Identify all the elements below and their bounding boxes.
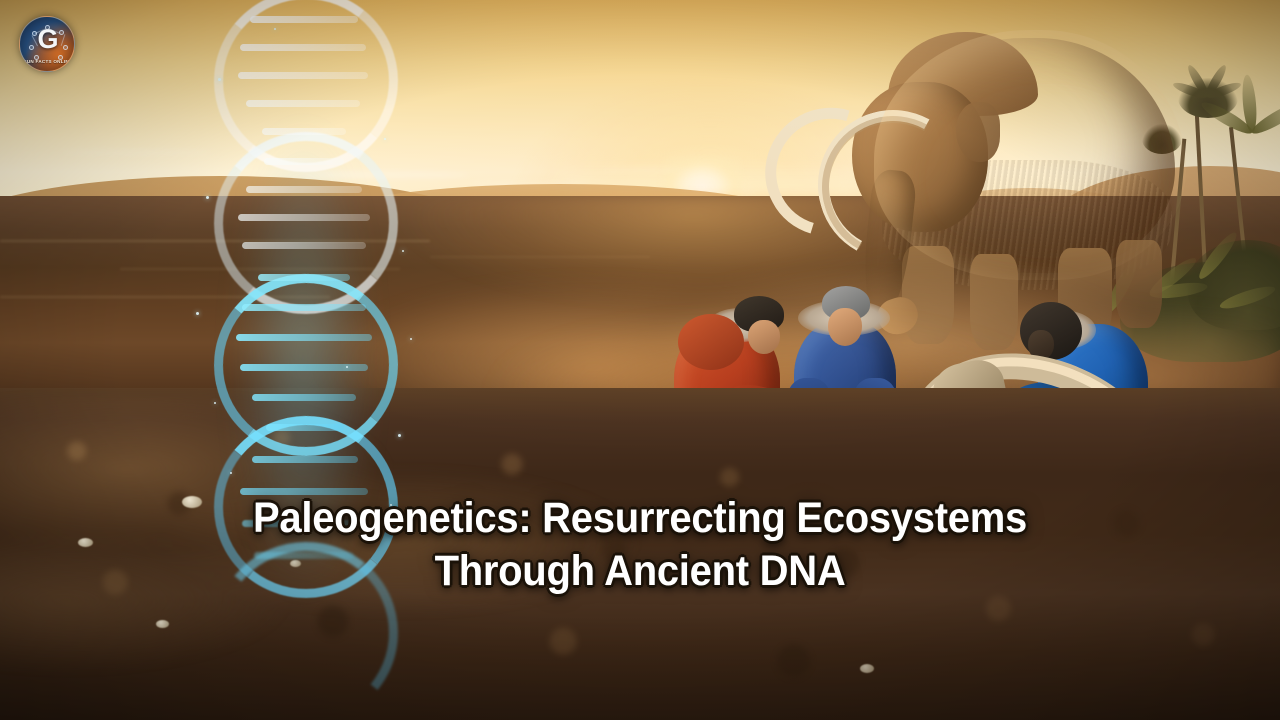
dna-double-helix xyxy=(178,0,428,632)
dna-base-pair xyxy=(264,158,344,165)
dna-particle xyxy=(390,504,392,506)
dna-particle xyxy=(218,78,221,81)
dna-particle xyxy=(196,312,199,315)
dna-base-pair xyxy=(242,520,364,527)
dna-base-pair xyxy=(258,274,350,281)
pebble xyxy=(860,664,874,673)
researcher-hood xyxy=(678,314,744,370)
site-logo[interactable]: G FUN FACTS ONLINE xyxy=(19,16,75,72)
dna-particle xyxy=(274,28,276,30)
dna-particle xyxy=(346,366,348,368)
dna-base-pair xyxy=(240,364,368,371)
researcher-face xyxy=(828,308,862,346)
dna-particle xyxy=(230,472,232,474)
dna-base-pair xyxy=(242,304,366,311)
dna-base-pair xyxy=(238,72,368,79)
hero-banner: Paleogenetics: Resurrecting Ecosystems T… xyxy=(0,0,1280,720)
dna-particle xyxy=(206,196,209,199)
dna-particle xyxy=(214,402,216,404)
logo-brand-text: FUN FACTS ONLINE xyxy=(20,59,75,64)
dna-base-pair xyxy=(240,488,368,495)
dna-base-pair xyxy=(246,186,362,193)
dna-base-pair xyxy=(240,44,366,51)
pebble xyxy=(78,538,93,547)
logo-monogram: G xyxy=(20,24,75,55)
researcher-face xyxy=(748,320,780,354)
dna-base-pair xyxy=(254,552,354,559)
dna-base-pair xyxy=(266,424,344,431)
dna-particle xyxy=(402,250,404,252)
dna-base-pair xyxy=(250,16,358,23)
cloud-streak xyxy=(600,168,690,172)
dna-base-pair xyxy=(262,128,346,135)
dna-particle xyxy=(398,434,401,437)
dna-base-pair xyxy=(238,214,370,221)
dna-base-pair xyxy=(236,334,372,341)
dna-base-pair xyxy=(252,394,356,401)
dna-base-pair xyxy=(252,456,358,463)
dna-particle xyxy=(410,338,412,340)
pebble xyxy=(156,620,169,628)
dna-base-pair xyxy=(246,100,360,107)
dna-particle xyxy=(384,138,386,140)
dna-base-pair xyxy=(242,242,366,249)
